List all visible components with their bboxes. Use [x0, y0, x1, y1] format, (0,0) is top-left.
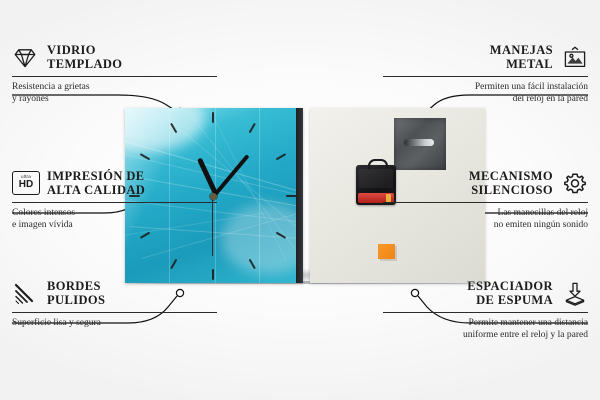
badge-hd-text: HD — [19, 180, 33, 190]
feature-title: VIDRIO TEMPLADO — [47, 44, 122, 71]
feature-title: MECANISMO SILENCIOSO — [469, 170, 553, 197]
feature-espaciador-espuma: ESPACIADOR DE ESPUMA Permite mantener un… — [383, 280, 588, 341]
feature-description: Permiten una fácil instalación del reloj… — [383, 82, 588, 105]
feature-desc-line: Las manecillas del reloj — [383, 208, 588, 220]
feature-manejas-metal: MANEJAS METAL Permiten una fácil instala… — [383, 44, 588, 105]
feature-title: BORDES PULIDOS — [47, 280, 105, 307]
feature-mecanismo-silencioso: MECANISMO SILENCIOSO Las manecillas del … — [383, 170, 588, 231]
clock-side-edge — [296, 108, 303, 283]
feature-header: ESPACIADOR DE ESPUMA — [383, 280, 588, 307]
feature-title-line: PULIDOS — [47, 294, 105, 308]
feature-description: Las manecillas del reloj no emiten ningú… — [383, 208, 588, 231]
feature-title-line: ALTA CALIDAD — [47, 184, 145, 198]
feature-desc-line: Permite mantener una distancia — [383, 318, 588, 330]
feature-description: Permite mantener una distancia uniforme … — [383, 318, 588, 341]
feature-desc-line: Superficie lisa y segura — [12, 318, 217, 330]
ultra-hd-badge-icon: ultra HD — [12, 171, 38, 197]
feature-desc-line: y rayones — [12, 94, 217, 106]
metal-hanger-plate — [394, 118, 446, 170]
feature-header: ultra HD IMPRESIÓN DE ALTA CALIDAD — [12, 170, 217, 197]
diamond-icon — [12, 45, 38, 71]
polished-edges-icon — [12, 281, 38, 307]
feature-divider — [383, 76, 588, 77]
feature-header: VIDRIO TEMPLADO — [12, 44, 217, 71]
feature-title-line: SILENCIOSO — [469, 184, 553, 198]
feature-desc-line: Colores intensos — [12, 208, 217, 220]
feature-header: MANEJAS METAL — [383, 44, 588, 71]
feature-description: Resistencia a grietas y rayones — [12, 82, 217, 105]
feature-desc-line: e imagen vívida — [12, 220, 217, 232]
gear-icon — [562, 171, 588, 197]
feature-title: ESPACIADOR DE ESPUMA — [467, 280, 553, 307]
feature-divider — [12, 76, 217, 77]
feature-divider — [12, 312, 217, 313]
feature-header: MECANISMO SILENCIOSO — [383, 170, 588, 197]
feature-title-line: IMPRESIÓN DE — [47, 170, 145, 184]
feature-vidrio-templado: VIDRIO TEMPLADO Resistencia a grietas y … — [12, 44, 217, 105]
feature-desc-line: del reloj en la pared — [383, 94, 588, 106]
feature-desc-line: Resistencia a grietas — [12, 82, 217, 94]
feature-divider — [383, 202, 588, 203]
hanger-slot — [404, 139, 434, 146]
feature-header: BORDES PULIDOS — [12, 280, 217, 307]
feature-divider — [12, 202, 217, 203]
feature-desc-line: uniforme entre el reloj y la pared — [383, 330, 588, 342]
feature-description: Colores intensos e imagen vívida — [12, 208, 217, 231]
feature-title-line: TEMPLADO — [47, 58, 122, 72]
foam-spacer-icon — [562, 281, 588, 307]
feature-title-line: VIDRIO — [47, 44, 122, 58]
infographic-canvas: VIDRIO TEMPLADO Resistencia a grietas y … — [0, 0, 600, 400]
feature-title-line: MECANISMO — [469, 170, 553, 184]
feature-title-line: ESPACIADOR — [467, 280, 553, 294]
feature-title-line: METAL — [490, 58, 553, 72]
feature-title: MANEJAS METAL — [490, 44, 553, 71]
feature-bordes-pulidos: BORDES PULIDOS Superficie lisa y segura — [12, 280, 217, 330]
feature-title-line: BORDES — [47, 280, 105, 294]
feature-title-line: MANEJAS — [490, 44, 553, 58]
feature-title: IMPRESIÓN DE ALTA CALIDAD — [47, 170, 145, 197]
feature-desc-line: Permiten una fácil instalación — [383, 82, 588, 94]
feature-title-line: DE ESPUMA — [467, 294, 553, 308]
feature-impresion-alta-calidad: ultra HD IMPRESIÓN DE ALTA CALIDAD Color… — [12, 170, 217, 231]
picture-hanger-icon — [562, 45, 588, 71]
foam-spacer-pad — [378, 244, 395, 259]
feature-divider — [383, 312, 588, 313]
feature-description: Superficie lisa y segura — [12, 318, 217, 330]
feature-desc-line: no emiten ningún sonido — [383, 220, 588, 232]
